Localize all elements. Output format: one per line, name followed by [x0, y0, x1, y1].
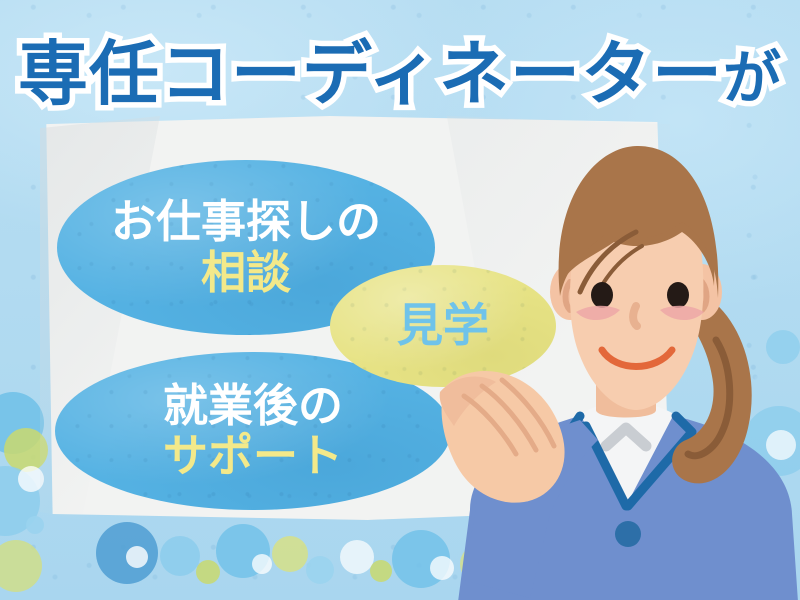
nose — [633, 306, 637, 326]
page-title: 専任コーディネーターが — [0, 18, 800, 119]
ellipse-support-line2: サポート — [163, 431, 343, 481]
headline-main: 専任コーディネーター — [18, 35, 723, 113]
ellipse-support-line1: 就業後の — [163, 381, 343, 431]
bubble-blue — [160, 536, 200, 576]
suit-button — [615, 521, 641, 547]
eye-right — [667, 282, 689, 308]
bubble-blue — [26, 516, 44, 534]
ellipse-consultation-line2: 相談 — [201, 248, 291, 298]
bubble-green — [196, 560, 220, 584]
eye-left — [591, 282, 613, 308]
bubble-white — [252, 554, 272, 574]
banner-canvas: お仕事探しの 相談 就業後の サポート 見学 — [0, 0, 800, 600]
ellipse-consultation-line1: お仕事探しの — [111, 197, 381, 247]
headline-particle: が — [723, 46, 782, 111]
bubble-white — [340, 540, 374, 574]
bubble-blue — [306, 556, 334, 584]
bubble-green — [370, 560, 392, 582]
bubble-green — [272, 536, 308, 572]
bubble-white — [126, 546, 148, 568]
presenting-hand — [424, 352, 604, 522]
